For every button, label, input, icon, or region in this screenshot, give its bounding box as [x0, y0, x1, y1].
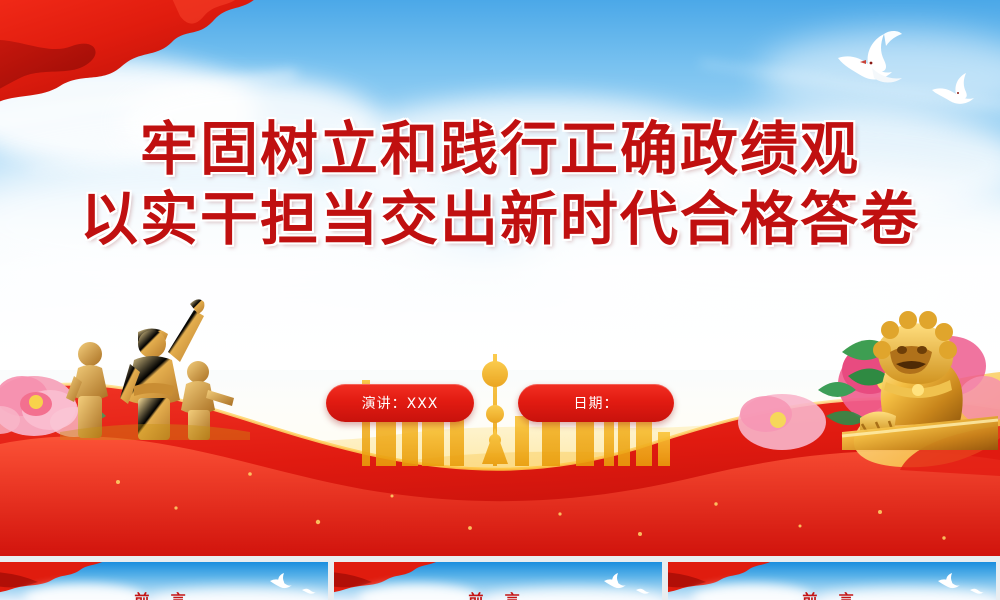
dove-icon [268, 572, 292, 590]
dove-icon [928, 68, 980, 108]
presentation-window: 牢固树立和践行正确政绩观 以实干担当交出新时代合格答卷 [0, 0, 1000, 600]
thumbnail-title: 前 言 [334, 589, 662, 600]
date-button[interactable]: 日期： [518, 384, 674, 422]
info-button-row: 演讲：XXX 日期： [0, 384, 1000, 422]
golden-lion-statue-icon [838, 300, 1000, 450]
title-line-1: 牢固树立和践行正确政绩观 [0, 114, 1000, 184]
slide-title: 牢固树立和践行正确政绩观 以实干担当交出新时代合格答卷 [0, 114, 1000, 254]
dove-icon [832, 28, 918, 90]
slide-canvas[interactable]: 牢固树立和践行正确政绩观 以实干担当交出新时代合格答卷 [0, 0, 1000, 556]
thumbnail-title: 前 言 [668, 589, 996, 600]
thumbnail-strip[interactable]: 前 言 前 言 [0, 556, 1000, 600]
thumbnail-title: 前 言 [0, 589, 328, 600]
speaker-button[interactable]: 演讲：XXX [326, 384, 474, 422]
dove-icon [936, 572, 960, 590]
title-line-2: 以实干担当交出新时代合格答卷 [0, 184, 1000, 254]
thumbnail-slide-3[interactable]: 前 言 [668, 562, 996, 600]
thumbnail-slide-2[interactable]: 前 言 [334, 562, 662, 600]
dove-icon [602, 572, 626, 590]
thumbnail-slide-1[interactable]: 前 言 [0, 562, 328, 600]
